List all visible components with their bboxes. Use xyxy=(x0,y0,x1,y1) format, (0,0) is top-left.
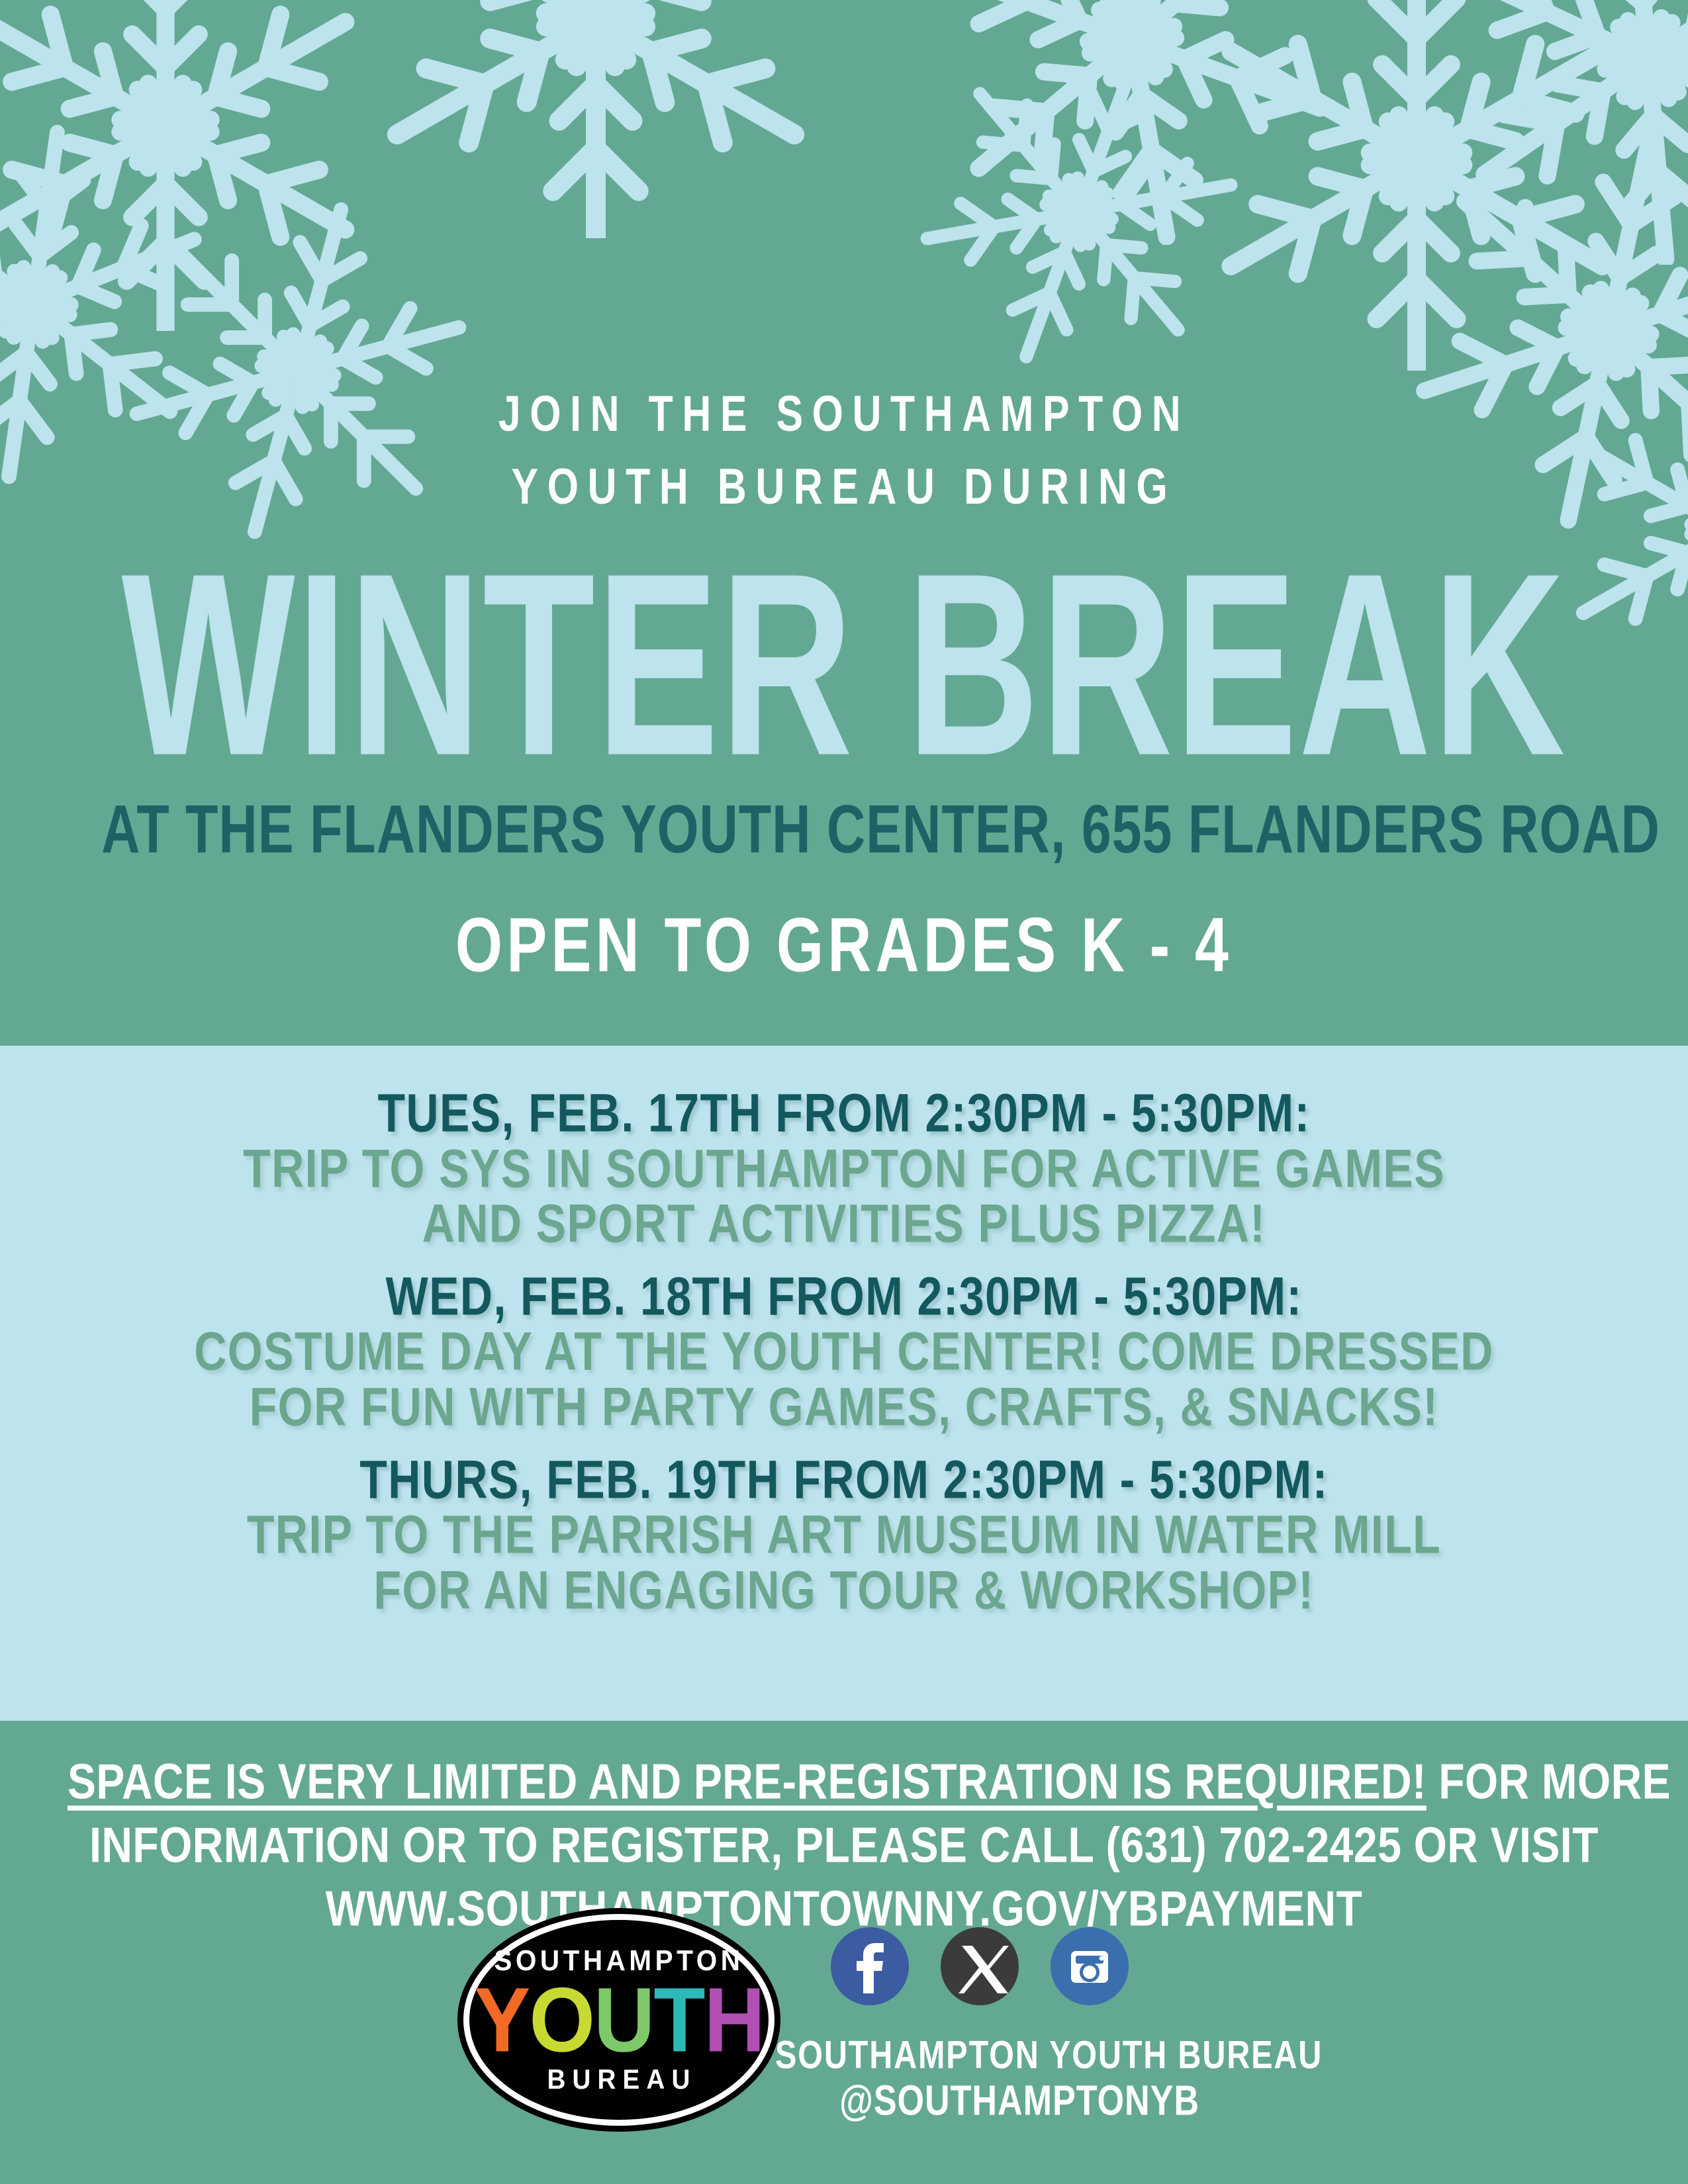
schedule-description-line: TRIP TO SYS IN SOUTHAMPTON FOR ACTIVE GA… xyxy=(68,1138,1620,1199)
schedule-description-line: COSTUME DAY AT THE YOUTH CENTER! COME DR… xyxy=(68,1321,1620,1382)
social-handle-tag: @SOUTHAMPTONYB xyxy=(775,2075,1264,2127)
x-twitter-icon[interactable] xyxy=(941,1927,1019,2005)
logo-youth-word: Y O U T H xyxy=(474,1978,764,2063)
logo-bottom-text: BUREAU xyxy=(541,2066,696,2093)
registration-line-2: INFORMATION OR TO REGISTER, PLEASE CALL … xyxy=(68,1813,1620,1877)
social-icon-row xyxy=(831,1927,1129,2005)
venue-address: AT THE FLANDERS YOUTH CENTER, 655 FLANDE… xyxy=(101,796,1587,864)
schedule-list: TUES, FEB. 17TH FROM 2:30PM - 5:30PM: TR… xyxy=(0,1046,1688,1721)
facebook-icon[interactable] xyxy=(831,1927,909,2005)
winter-break-flyer: JOIN THE SOUTHAMPTON YOUTH BUREAU DURING… xyxy=(0,0,1688,2184)
schedule-item: THURS, FEB. 19TH FROM 2:30PM - 5:30PM: T… xyxy=(0,1449,1688,1615)
header-copy: JOIN THE SOUTHAMPTON YOUTH BUREAU DURING… xyxy=(0,0,1688,1046)
footer: SPACE IS VERY LIMITED AND PRE-REGISTRATI… xyxy=(0,1721,1688,2184)
logo-letter-o: O xyxy=(529,1975,594,2066)
social-org-name: SOUTHAMPTON YOUTH BUREAU xyxy=(775,2032,1264,2079)
schedule-date: THURS, FEB. 19TH FROM 2:30PM - 5:30PM: xyxy=(68,1449,1620,1510)
page-title: WINTER BREAK xyxy=(68,537,1620,792)
header-band: JOIN THE SOUTHAMPTON YOUTH BUREAU DURING… xyxy=(0,0,1688,1046)
schedule-description-line: TRIP TO THE PARRISH ART MUSEUM IN WATER … xyxy=(68,1504,1620,1565)
registration-line-1: SPACE IS VERY LIMITED AND PRE-REGISTRATI… xyxy=(68,1750,1620,1813)
southampton-youth-bureau-logo: SOUTHAMPTON Y O U T H BUREAU xyxy=(463,1914,774,2126)
schedule-description-line: FOR FUN WITH PARTY GAMES, CRAFTS, & SNAC… xyxy=(68,1377,1620,1437)
schedule-item: TUES, FEB. 17TH FROM 2:30PM - 5:30PM: TR… xyxy=(0,1083,1688,1249)
brand-row: SOUTHAMPTON Y O U T H BUREAU xyxy=(0,1909,1688,2160)
schedule-item: WED, FEB. 18TH FROM 2:30PM - 5:30PM: COS… xyxy=(0,1266,1688,1432)
schedule-description-line: AND SPORT ACTIVITIES PLUS PIZZA! xyxy=(68,1193,1620,1254)
logo-letter-y: Y xyxy=(474,1975,529,2066)
intro-line-2: YOUTH BUREAU DURING xyxy=(169,462,1519,512)
grades-eligibility: OPEN TO GRADES K - 4 xyxy=(101,907,1587,983)
registration-line-1-rest: FOR MORE xyxy=(1427,1753,1671,1809)
schedule-date: WED, FEB. 18TH FROM 2:30PM - 5:30PM: xyxy=(68,1266,1620,1327)
schedule-date: TUES, FEB. 17TH FROM 2:30PM - 5:30PM: xyxy=(68,1083,1620,1144)
schedule-description-line: FOR AN ENGAGING TOUR & WORKSHOP! xyxy=(68,1560,1620,1621)
instagram-icon[interactable] xyxy=(1051,1927,1129,2005)
logo-letter-u: U xyxy=(594,1975,653,2066)
social-handles: SOUTHAMPTON YOUTH BUREAU @SOUTHAMPTONYB xyxy=(748,2032,1291,2122)
registration-emphasis: SPACE IS VERY LIMITED AND PRE-REGISTRATI… xyxy=(68,1753,1427,1809)
logo-letter-t: T xyxy=(653,1975,704,2066)
intro-line-1: JOIN THE SOUTHAMPTON xyxy=(169,389,1519,439)
